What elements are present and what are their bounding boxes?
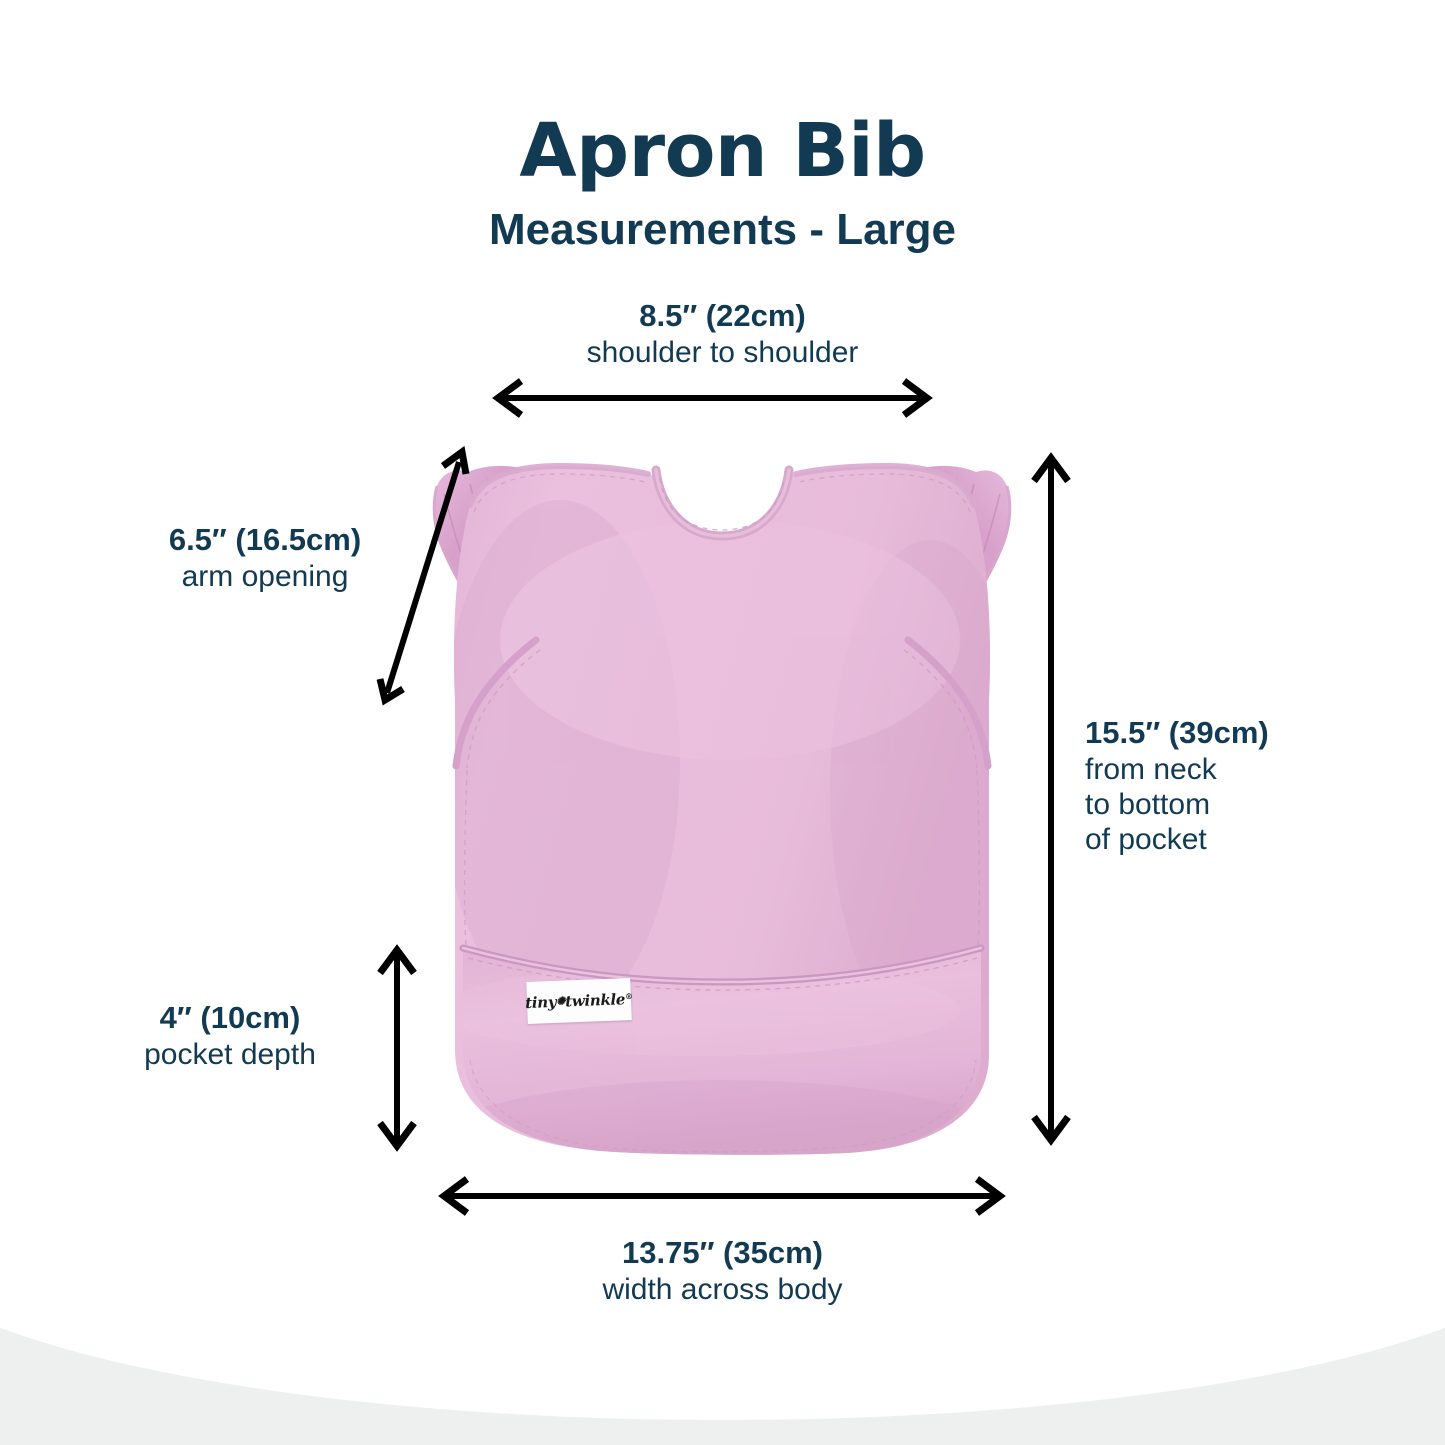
desc-neck-to-pocket-line3: of pocket <box>1085 822 1405 857</box>
label-arm-opening: 6.5″ (16.5cm) arm opening <box>100 522 430 594</box>
label-width-across-body: 13.75″ (35cm) width across body <box>0 1235 1445 1307</box>
value-width-across-body: 13.75″ (35cm) <box>0 1235 1445 1272</box>
value-pocket-depth: 4″ (10cm) <box>80 1000 380 1037</box>
label-shoulder-to-shoulder: 8.5″ (22cm) shoulder to shoulder <box>0 298 1445 370</box>
desc-neck-to-pocket-line1: from neck <box>1085 752 1405 787</box>
arrow-width-across-body <box>444 1179 1000 1213</box>
value-shoulder-to-shoulder: 8.5″ (22cm) <box>0 298 1445 335</box>
arrow-shoulder-to-shoulder <box>498 381 927 415</box>
measurement-diagram-page: Apron Bib Measurements - Large <box>0 0 1445 1445</box>
desc-neck-to-pocket-line2: to bottom <box>1085 787 1405 822</box>
desc-arm-opening: arm opening <box>100 559 430 594</box>
label-neck-to-pocket: 15.5″ (39cm) from neck to bottom of pock… <box>1085 715 1405 858</box>
desc-pocket-depth: pocket depth <box>80 1037 380 1072</box>
label-pocket-depth: 4″ (10cm) pocket depth <box>80 1000 380 1072</box>
arrow-neck-to-pocket <box>1034 458 1068 1140</box>
value-arm-opening: 6.5″ (16.5cm) <box>100 522 430 559</box>
desc-width-across-body: width across body <box>0 1272 1445 1307</box>
desc-shoulder-to-shoulder: shoulder to shoulder <box>0 335 1445 370</box>
arrow-pocket-depth <box>380 950 414 1146</box>
value-neck-to-pocket: 15.5″ (39cm) <box>1085 715 1405 752</box>
